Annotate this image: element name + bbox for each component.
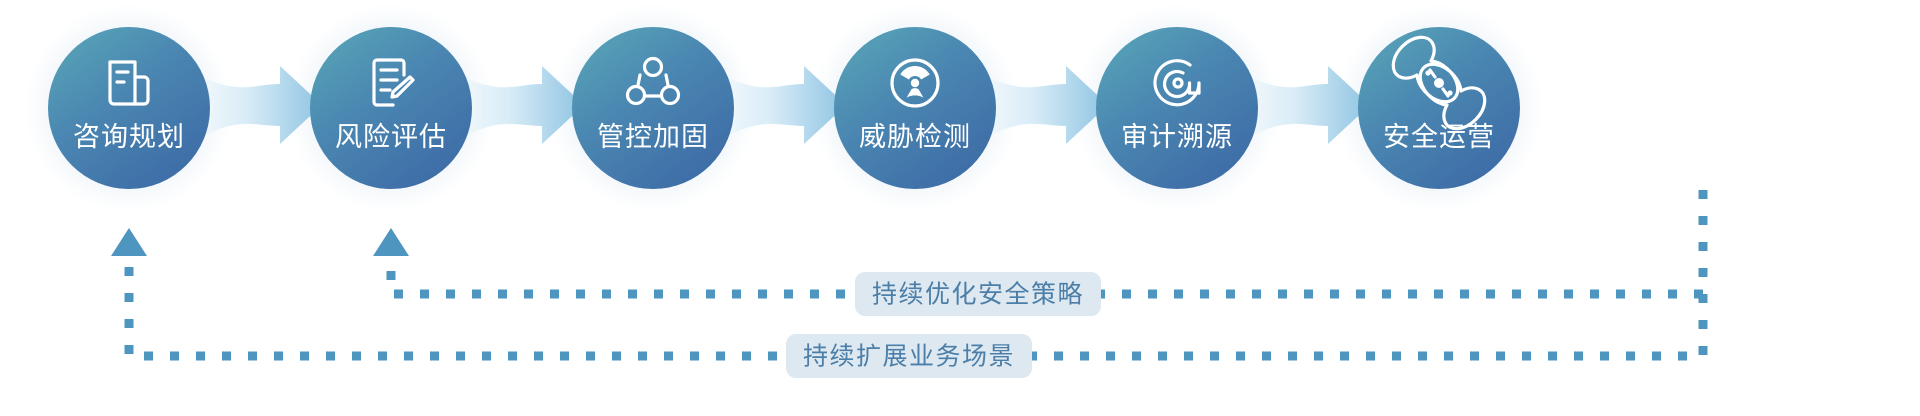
node-label-threat: 威胁检测 <box>859 122 971 152</box>
feedback-arrowhead-expand-business <box>111 228 147 256</box>
feedback-loop-optimize-policy: 持续优化安全策略 <box>373 190 1703 316</box>
node-circle-operations[interactable] <box>1358 27 1520 189</box>
node-control[interactable]: 管控加固 <box>572 27 734 189</box>
node-label-audit: 审计溯源 <box>1121 122 1233 152</box>
process-flow-diagram: 持续优化安全策略 持续扩展业务场景 咨询规划 <box>0 0 1920 416</box>
node-audit[interactable]: 审计溯源 <box>1096 27 1258 189</box>
node-label-operations: 安全运营 <box>1383 122 1495 152</box>
feedback-arrowhead-optimize-policy <box>373 228 409 256</box>
feedback-loops: 持续优化安全策略 持续扩展业务场景 <box>111 190 1703 378</box>
node-circle-consulting[interactable] <box>48 27 210 189</box>
feedback-label-optimize-policy: 持续优化安全策略 <box>872 281 1084 309</box>
node-circle-threat[interactable] <box>834 27 996 189</box>
node-circle-risk[interactable] <box>310 27 472 189</box>
feedback-label-expand-business: 持续扩展业务场景 <box>803 343 1015 371</box>
node-label-control: 管控加固 <box>597 122 709 152</box>
node-risk[interactable]: 风险评估 <box>310 27 472 189</box>
diagram-canvas: 持续优化安全策略 持续扩展业务场景 咨询规划 <box>0 0 1920 416</box>
node-label-risk: 风险评估 <box>335 122 447 152</box>
node-circle-audit[interactable] <box>1096 27 1258 189</box>
node-threat[interactable]: 威胁检测 <box>834 27 996 189</box>
node-consulting[interactable]: 咨询规划 <box>48 27 210 189</box>
node-operations[interactable]: 安全运营 <box>1358 27 1520 189</box>
node-label-consulting: 咨询规划 <box>73 122 185 152</box>
node-circle-control[interactable] <box>572 27 734 189</box>
